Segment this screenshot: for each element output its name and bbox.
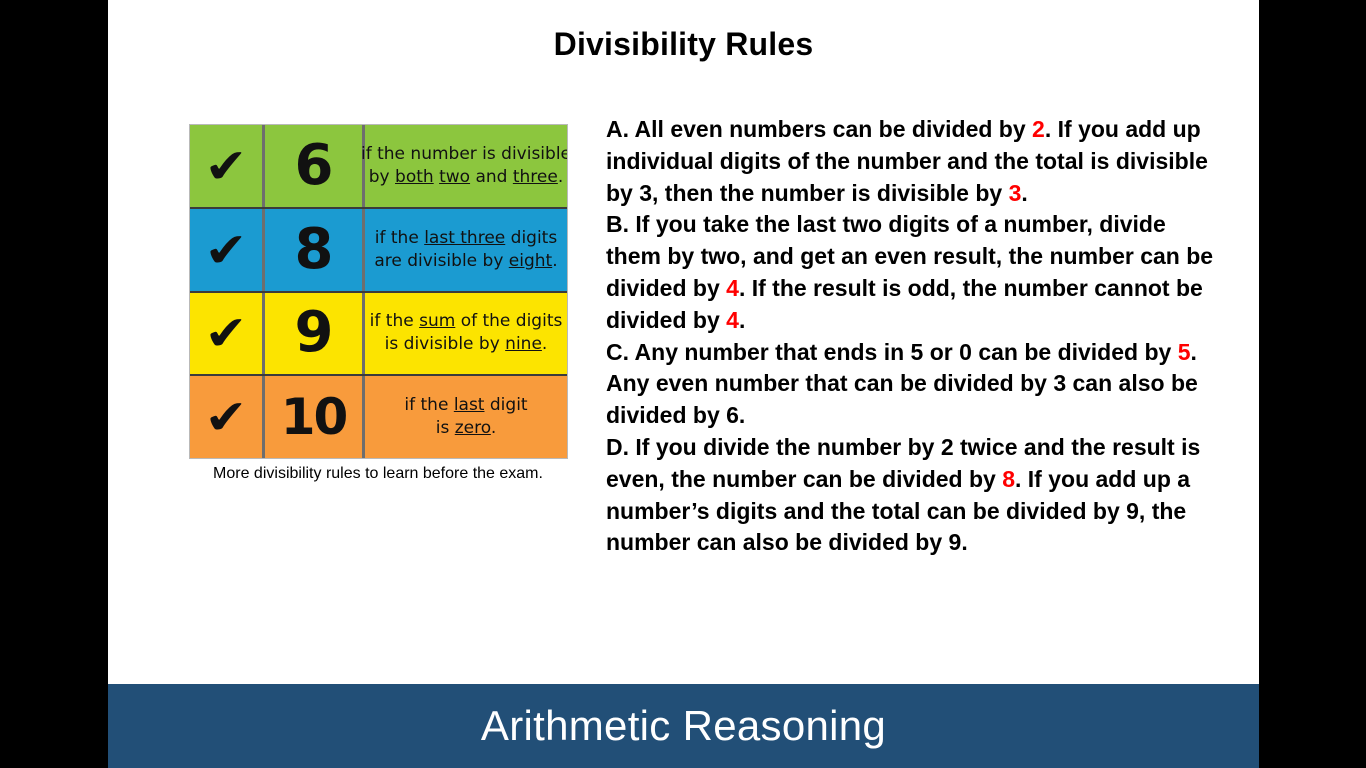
poster-rule-text: if the sum of the digitsis divisible by … — [365, 293, 567, 375]
poster-rule-line: if the sum of the digits — [370, 310, 563, 333]
poster-rule-text: if the last three digitsare divisible by… — [365, 209, 567, 291]
poster-rule-line: if the number is divisible — [361, 143, 568, 166]
rule-paragraph-c: C. Any number that ends in 5 or 0 can be… — [606, 337, 1216, 432]
poster-divisor-number: 6 — [265, 125, 365, 207]
letterbox-bar-right — [1259, 0, 1366, 768]
rule-text: A. All even numbers can be divided by — [606, 116, 1032, 142]
highlighted-divisor: 3 — [1009, 180, 1022, 206]
page-title: Divisibility Rules — [108, 26, 1259, 63]
poster-row: ✔10if the last digitis zero. — [190, 376, 567, 458]
rule-text: . — [739, 307, 745, 333]
poster-row: ✔9if the sum of the digitsis divisible b… — [190, 293, 567, 377]
footer-title: Arithmetic Reasoning — [481, 702, 886, 750]
rule-paragraph-d: D. If you divide the number by 2 twice a… — [606, 432, 1216, 559]
checkmark-icon: ✔ — [190, 209, 265, 291]
poster-rule-line: is divisible by nine. — [385, 333, 548, 356]
divisibility-poster-image: ✔6if the number is divisibleby both two … — [189, 124, 568, 459]
poster-rule-line: if the last three digits — [375, 227, 557, 250]
poster-divisor-number: 8 — [265, 209, 365, 291]
divisibility-rules-text: A. All even numbers can be divided by 2.… — [606, 114, 1216, 559]
rule-paragraph-a: A. All even numbers can be divided by 2.… — [606, 114, 1216, 209]
poster-caption: More divisibility rules to learn before … — [178, 464, 578, 485]
letterbox-bar-left — [0, 0, 108, 768]
highlighted-divisor: 4 — [726, 307, 739, 333]
poster-rule-line: if the last digit — [404, 394, 527, 417]
rule-paragraph-b: B. If you take the last two digits of a … — [606, 209, 1216, 336]
slide-root: Divisibility Rules ✔6if the number is di… — [0, 0, 1366, 768]
checkmark-icon: ✔ — [190, 125, 265, 207]
slide-canvas: Divisibility Rules ✔6if the number is di… — [108, 0, 1259, 684]
poster-row: ✔8if the last three digitsare divisible … — [190, 209, 567, 293]
poster-rule-line: is zero. — [436, 417, 497, 440]
highlighted-divisor: 4 — [726, 275, 739, 301]
footer-band: Arithmetic Reasoning — [108, 684, 1259, 768]
highlighted-divisor: 2 — [1032, 116, 1045, 142]
highlighted-divisor: 5 — [1178, 339, 1191, 365]
poster-row: ✔6if the number is divisibleby both two … — [190, 125, 567, 209]
rule-text: . — [1021, 180, 1027, 206]
poster-rule-text: if the last digitis zero. — [365, 376, 567, 458]
highlighted-divisor: 8 — [1002, 466, 1015, 492]
poster-rule-line: are divisible by eight. — [374, 250, 557, 273]
poster-rule-line: by both two and three. — [369, 166, 563, 189]
poster-divisor-number: 10 — [265, 376, 365, 458]
rule-text: C. Any number that ends in 5 or 0 can be… — [606, 339, 1178, 365]
poster-divisor-number: 9 — [265, 293, 365, 375]
checkmark-icon: ✔ — [190, 376, 265, 458]
checkmark-icon: ✔ — [190, 293, 265, 375]
poster-rule-text: if the number is divisibleby both two an… — [365, 125, 567, 207]
